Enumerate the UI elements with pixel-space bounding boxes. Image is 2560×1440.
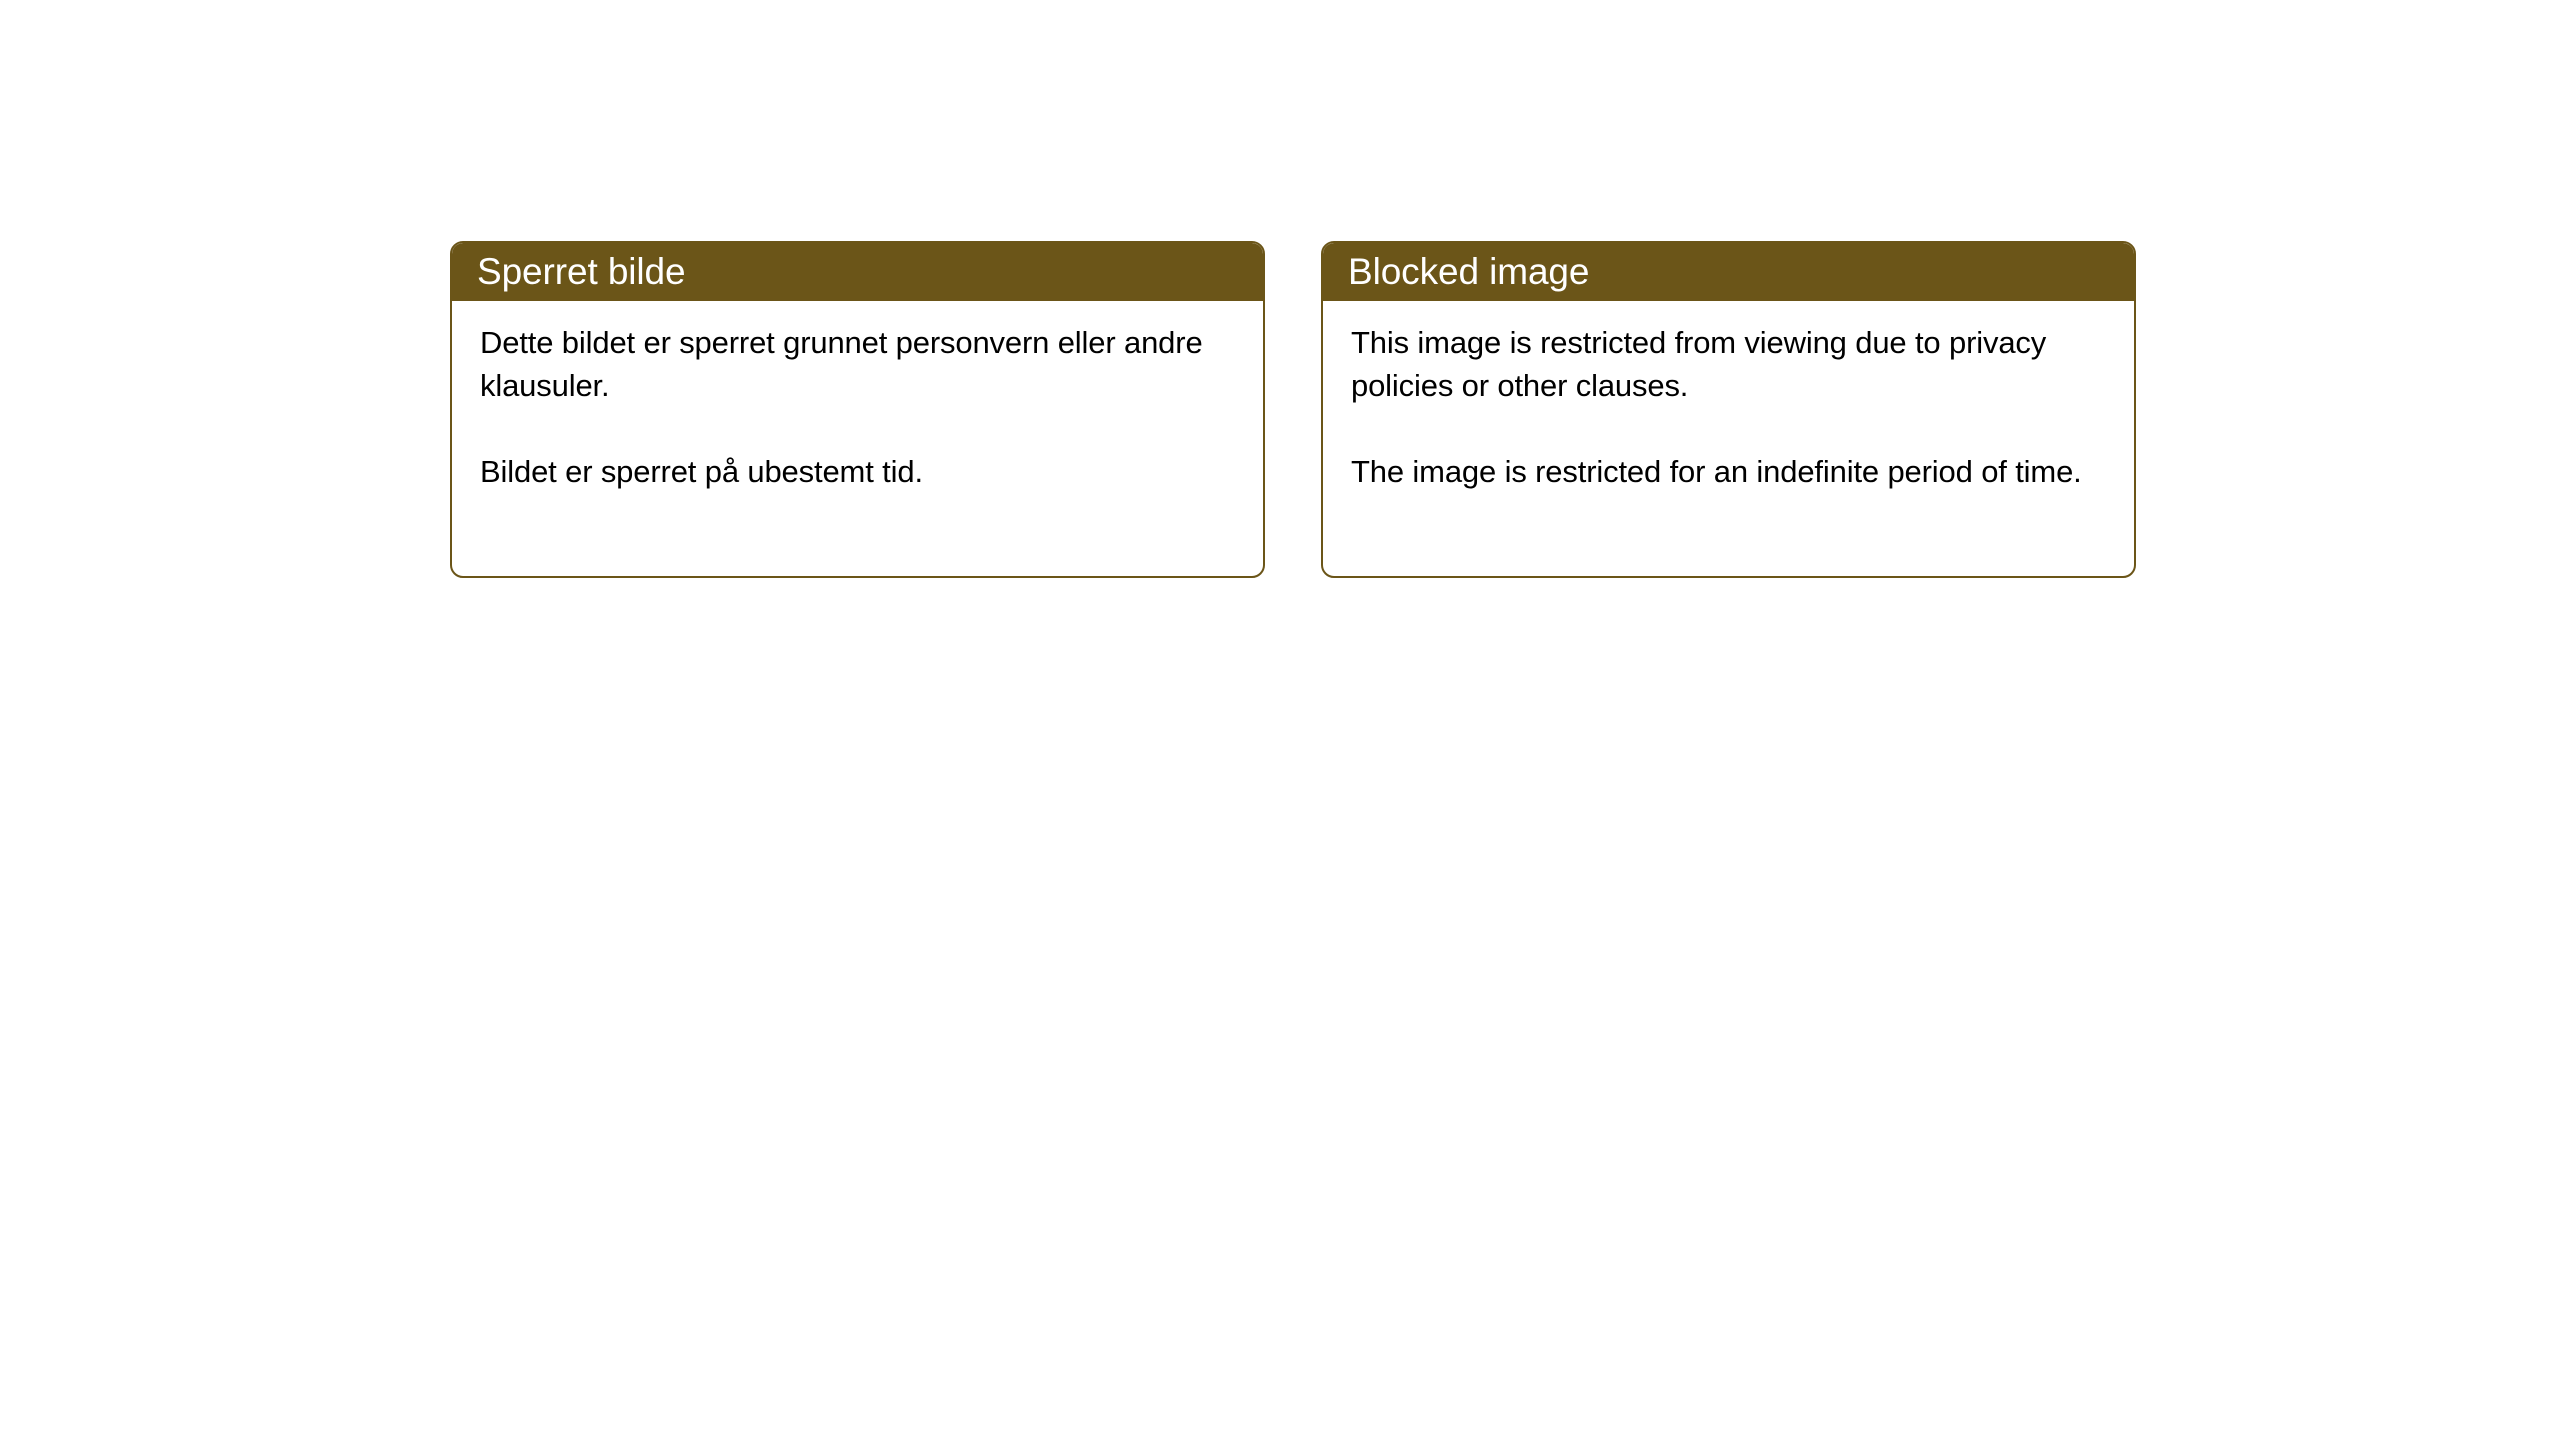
card-paragraph-en-2: The image is restricted for an indefinit…	[1351, 450, 2110, 493]
notice-cards-container: Sperret bilde Dette bildet er sperret gr…	[450, 241, 2136, 578]
card-title-no: Sperret bilde	[477, 250, 686, 294]
card-body-en: This image is restricted from viewing du…	[1323, 301, 2134, 576]
paragraph-spacer-en	[1351, 407, 2110, 450]
card-paragraph-en-1: This image is restricted from viewing du…	[1351, 321, 2110, 407]
paragraph-spacer-no	[480, 407, 1239, 450]
blocked-image-notice-card-en: Blocked image This image is restricted f…	[1321, 241, 2136, 578]
card-header-no: Sperret bilde	[452, 243, 1263, 301]
card-header-en: Blocked image	[1323, 243, 2134, 301]
card-title-en: Blocked image	[1348, 250, 1589, 294]
card-paragraph-no-2: Bildet er sperret på ubestemt tid.	[480, 450, 1239, 493]
card-body-no: Dette bildet er sperret grunnet personve…	[452, 301, 1263, 576]
page-root: Sperret bilde Dette bildet er sperret gr…	[0, 0, 2560, 1440]
blocked-image-notice-card-no: Sperret bilde Dette bildet er sperret gr…	[450, 241, 1265, 578]
card-paragraph-no-1: Dette bildet er sperret grunnet personve…	[480, 321, 1239, 407]
